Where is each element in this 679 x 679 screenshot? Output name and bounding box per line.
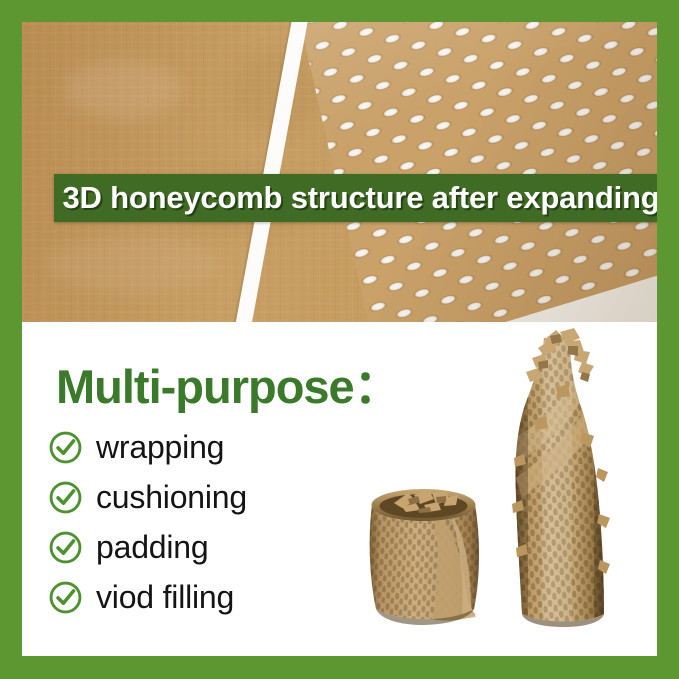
page-title-text: Multi-purpose xyxy=(56,360,354,413)
caption-band: 3D honeycomb structure after expanding xyxy=(54,174,657,222)
list-item: padding xyxy=(48,522,247,572)
honeycomb-wrapped-bottle xyxy=(498,328,626,630)
check-circle-icon xyxy=(48,530,83,565)
caption-text: 3D honeycomb structure after expanding xyxy=(62,180,657,216)
product-infographic: 3D honeycomb structure after expanding M… xyxy=(0,0,679,679)
check-circle-icon xyxy=(48,430,83,465)
list-item: viod filling xyxy=(48,572,247,622)
feature-label: cushioning xyxy=(96,479,247,516)
honeycomb-comparison-photo: 3D honeycomb structure after expanding xyxy=(22,22,657,322)
features-panel: Multi-purpose： wrapping cushioning xyxy=(22,322,657,656)
feature-label: padding xyxy=(96,529,209,566)
feature-label: wrapping xyxy=(96,429,224,466)
feature-label: viod filling xyxy=(96,579,234,616)
page-title: Multi-purpose： xyxy=(56,348,401,417)
list-item: cushioning xyxy=(48,472,247,522)
feature-list: wrapping cushioning padding xyxy=(48,422,247,622)
check-circle-icon xyxy=(48,580,83,615)
honeycomb-wrapped-roll xyxy=(358,469,491,629)
check-circle-icon xyxy=(48,480,83,515)
list-item: wrapping xyxy=(48,422,247,472)
page-title-colon: ： xyxy=(354,360,401,413)
